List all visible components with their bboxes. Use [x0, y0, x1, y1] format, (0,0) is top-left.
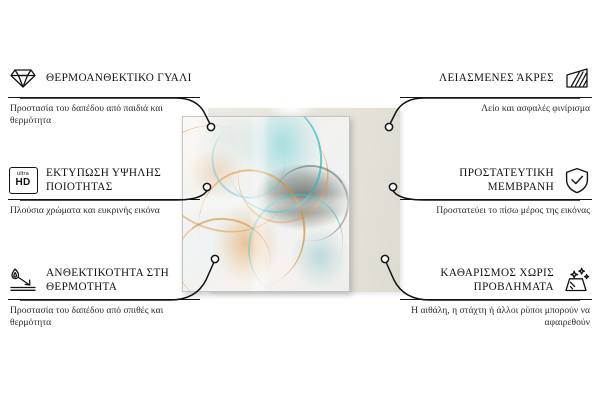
ultra-hd-icon: ultra HD	[8, 165, 38, 195]
connector-dot-right-3	[381, 255, 388, 262]
feature-block-heat-resistant-glass: ΘΕΡΜΟΑΝΘΕΚΤΙΚΟ ΓΥΑΛΙ Προστασία του δαπέδ…	[8, 62, 200, 127]
ultra-hd-icon-bottom-label: HD	[15, 178, 30, 188]
connector-dot-right-1	[385, 123, 392, 130]
feature-divider	[8, 299, 200, 300]
feature-description: Πλούσια χρώματα και ευκρινής εικόνα	[8, 205, 200, 217]
connector-dot-left-3	[211, 255, 218, 262]
feature-description: Λείο και ασφαλές φινίρισμα	[400, 103, 592, 115]
feature-divider	[400, 299, 592, 300]
feature-divider	[8, 199, 200, 200]
feature-block-high-quality-print: ultra HD ΕΚΤΥΠΩΣΗ ΥΨΗΛΗΣ ΠΟΙΟΤΗΤΑΣ Πλούσ…	[8, 164, 200, 217]
diamond-icon	[8, 63, 38, 93]
feature-block-heat-durability: ΑΝΘΕΚΤΙΚΟΤΗΤΑ ΣΤΗ ΘΕΡΜΟΤΗΤΑ Προστασία το…	[8, 264, 200, 329]
feature-title: ΛΕΙΑΣΜΕΝΕΣ ΆΚΡΕΣ	[439, 71, 554, 85]
feature-description: Η αιθάλη, η στάχτη ή άλλοι ρύποι μπορούν…	[400, 305, 592, 329]
feature-divider	[8, 97, 200, 98]
feature-title: ΑΝΘΕΚΤΙΚΟΤΗΤΑ ΣΤΗ ΘΕΡΜΟΤΗΤΑ	[46, 266, 200, 294]
polished-edges-icon	[562, 63, 592, 93]
connector-dot-right-2	[389, 183, 396, 190]
feature-divider	[400, 97, 592, 98]
feature-description: Προστατεύει το πίσω μέρος της εικόνας	[400, 205, 592, 217]
shield-check-icon	[562, 165, 592, 195]
product-feature-infographic: ΘΕΡΜΟΑΝΘΕΚΤΙΚΟ ΓΥΑΛΙ Προστασία του δαπέδ…	[0, 0, 600, 400]
feature-title: ΠΡΟΣΤΑΤΕΥΤΙΚΗ ΜΕΜΒΡΑΝΗ	[400, 166, 554, 194]
feature-description: Προστασία του δαπέδου από παιδιά και θερ…	[8, 103, 200, 127]
connector-dot-left-2	[203, 183, 210, 190]
heat-resistant-icon	[8, 265, 38, 295]
feature-title: ΕΚΤΥΠΩΣΗ ΥΨΗΛΗΣ ΠΟΙΟΤΗΤΑΣ	[46, 166, 200, 194]
feature-block-protective-membrane: ΠΡΟΣΤΑΤΕΥΤΙΚΗ ΜΕΜΒΡΑΝΗ Προστατεύει το πί…	[400, 164, 592, 217]
connector-dot-left-1	[207, 123, 214, 130]
feature-title: ΘΕΡΜΟΑΝΘΕΚΤΙΚΟ ΓΥΑΛΙ	[46, 71, 192, 85]
feature-title: ΚΑΘΑΡΙΣΜΟΣ ΧΩΡΙΣ ΠΡΟΒΛΗΜΑΤΑ	[400, 266, 554, 294]
feature-divider	[400, 199, 592, 200]
easy-clean-icon	[562, 265, 592, 295]
feature-block-easy-cleaning: ΚΑΘΑΡΙΣΜΟΣ ΧΩΡΙΣ ΠΡΟΒΛΗΜΑΤΑ Η αιθάλη, η …	[400, 264, 592, 329]
feature-description: Προστασία του δαπέδου από σπιθές και θερ…	[8, 305, 200, 329]
feature-block-polished-edges: ΛΕΙΑΣΜΕΝΕΣ ΆΚΡΕΣ Λείο και ασφαλές φινίρι…	[400, 62, 592, 115]
